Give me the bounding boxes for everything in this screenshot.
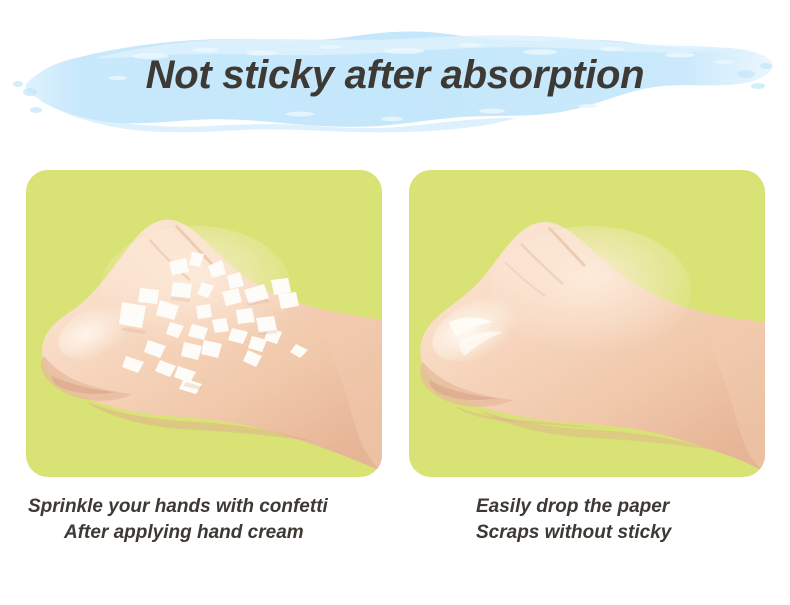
hand-with-confetti-illustration (26, 170, 382, 477)
panel-right (409, 170, 765, 477)
caption-right: Easily drop the paper Scraps without sti… (476, 494, 671, 546)
hand-with-confetti-photo (26, 170, 382, 477)
caption-right-line-2: Scraps without sticky (476, 520, 671, 546)
clean-hand-illustration (409, 170, 765, 477)
panel-left (26, 170, 382, 477)
caption-left-line-1: Sprinkle your hands with confetti (28, 494, 328, 520)
caption-left: Sprinkle your hands with confetti After … (28, 494, 328, 546)
clean-hand-photo (409, 170, 765, 477)
caption-right-line-1: Easily drop the paper (476, 494, 671, 520)
caption-left-line-2: After applying hand cream (28, 520, 328, 546)
